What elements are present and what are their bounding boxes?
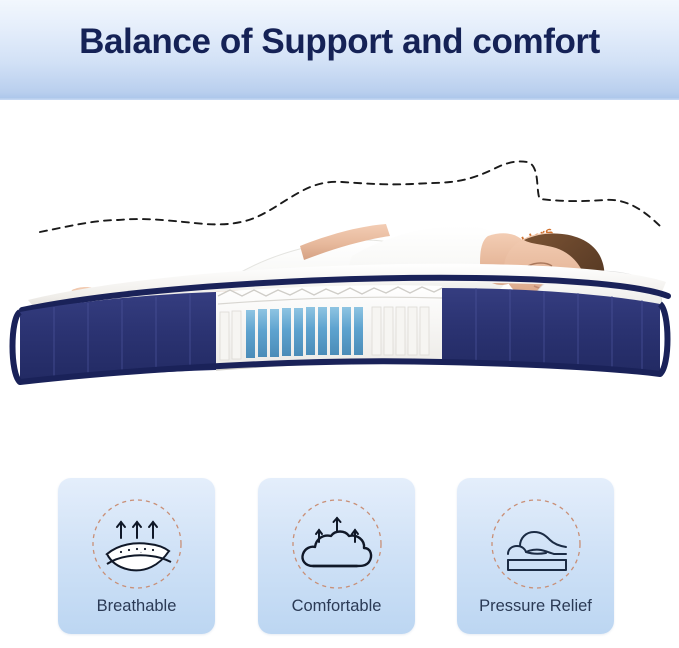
breathable-fabric-icon [85, 492, 189, 596]
feature-card-pressure-relief[interactable]: Pressure Relief [457, 478, 614, 634]
icon-ring [293, 500, 381, 588]
cloud-shape [302, 532, 371, 567]
pressure-relief-icon [484, 492, 588, 596]
cloud-comfort-icon [285, 492, 389, 596]
person-on-mattress [508, 532, 566, 570]
fabric-lower-layer [107, 551, 169, 570]
card-label: Comfortable [258, 597, 415, 616]
corner-right [660, 304, 668, 374]
card-label: Breathable [58, 597, 215, 616]
feature-card-breathable[interactable]: Breathable [58, 478, 215, 634]
feature-card-comfortable[interactable]: Comfortable [258, 478, 415, 634]
hero-illustration: AnkleKneesHipsWaistShouldersHead [0, 100, 679, 460]
icon-ring [492, 500, 580, 588]
cloud-arrows [316, 518, 358, 542]
page-title: Balance of Support and comfort [0, 22, 679, 62]
corner-left [13, 312, 21, 382]
airflow-arrows [117, 522, 157, 538]
feature-card-row: Breathable Comfortable [0, 478, 679, 638]
mattress-cutaway [6, 252, 673, 397]
header-banner: Balance of Support and comfort [0, 0, 679, 100]
card-label: Pressure Relief [457, 597, 614, 616]
product-infographic: Balance of Support and comfort AnkleKnee… [0, 0, 679, 648]
